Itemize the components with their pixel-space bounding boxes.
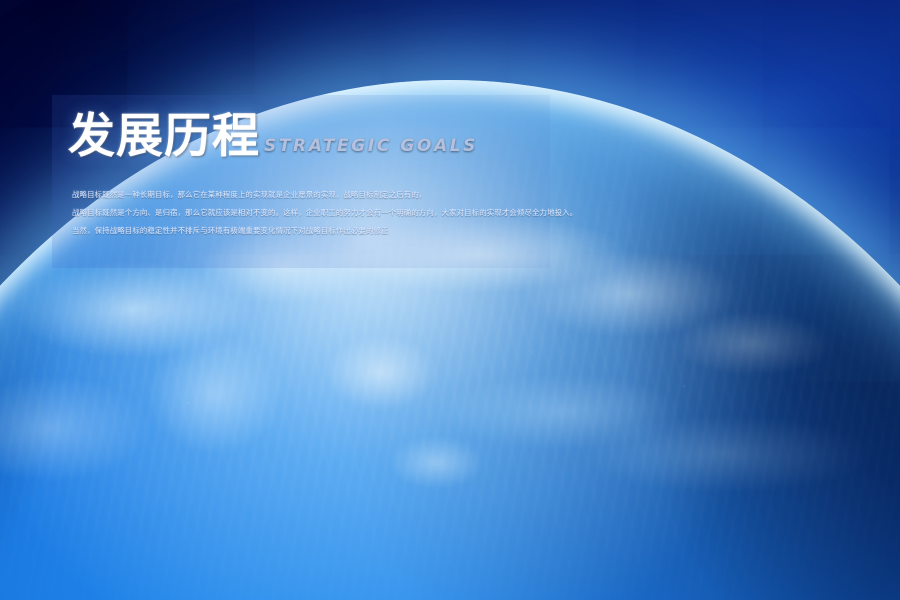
headline-group: 发展历程 STRATEGIC GOALS [68,113,478,160]
body-line-3: 当然，保持战略目标的稳定性并不排斥与环境有极端重要变化情况下对战略目标作出必要的… [72,222,752,240]
page-subtitle: STRATEGIC GOALS [264,136,478,156]
body-line-1: 战略目标既然是一种长期目标，那么它在某种程度上的实现就是企业愿景的实现，战略目标… [72,186,752,204]
banner-stage: 发展历程 STRATEGIC GOALS 战略目标既然是一种长期目标，那么它在某… [0,0,900,600]
body-copy: 战略目标既然是一种长期目标，那么它在某种程度上的实现就是企业愿景的实现，战略目标… [72,186,752,240]
sky-horizon-glow [0,0,900,600]
body-line-2: 战略目标既然是个方向、是归宿，那么它就应该是相对不变的。这样，企业职工的努力才会… [72,204,752,222]
page-title: 发展历程 [68,113,260,160]
